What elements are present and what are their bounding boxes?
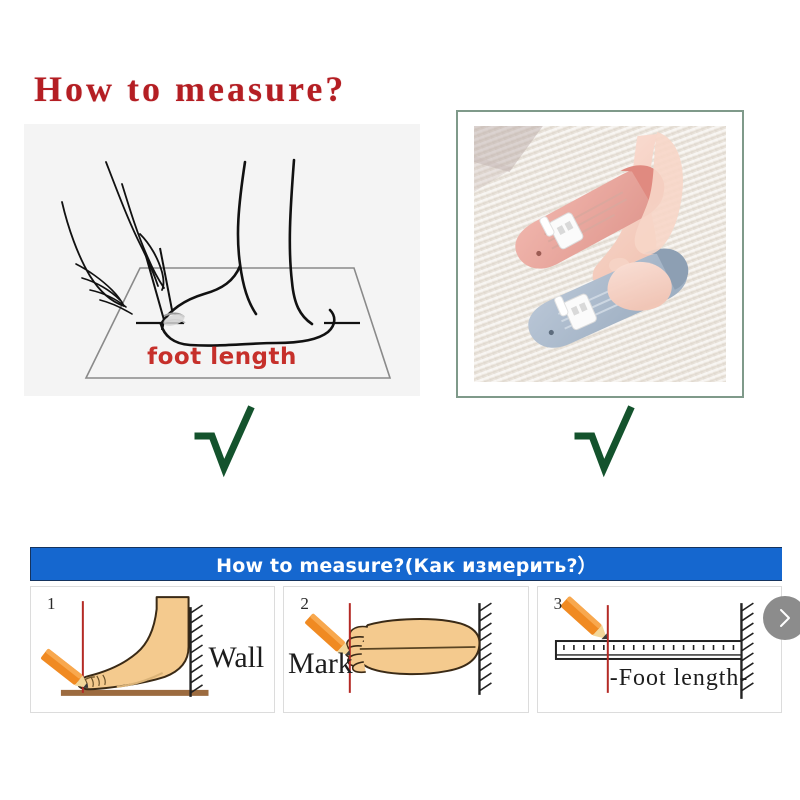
gauge-photo-illustration [474,126,726,382]
check-icon [570,404,640,478]
step-3-label: -Foot length- [609,665,748,691]
bottom-section: How to measure?(Как измерить?） 1 [0,520,800,800]
foot-side-view-against-wall-icon: Wall [31,587,274,712]
page-title: How to measure? [34,68,346,110]
step-1-label: Wall [209,641,265,674]
ruler-measuring-foot-length-icon: -Foot length- [538,587,781,712]
how-to-measure-banner: How to measure?(Как измерить?） [30,547,782,581]
step-panel-3[interactable]: 3 [537,586,782,713]
checkmark-right [570,404,640,478]
step-number: 3 [554,595,563,612]
foot-measuring-gauge-photo [474,126,726,382]
step-panel-2[interactable]: 2 [283,586,528,713]
checkmark-left [190,404,260,478]
chevron-right-icon [774,607,796,629]
step-number: 2 [300,595,309,612]
illustration-hand-marking-foot: foot length [24,124,420,396]
step-number: 1 [47,595,56,612]
foot-length-caption: foot length [24,344,420,370]
next-arrow-button[interactable] [763,596,800,640]
step-2-label: Mark [288,647,353,680]
check-icon [190,404,260,478]
step-panel-1[interactable]: 1 [30,586,275,713]
top-section: How to measure? [0,0,800,520]
foot-top-view-mark-icon: Mark [284,587,527,712]
measure-steps-row: 1 [30,586,782,713]
photo-frame [456,110,744,398]
banner-text: How to measure?(Как измерить?） [216,551,597,578]
